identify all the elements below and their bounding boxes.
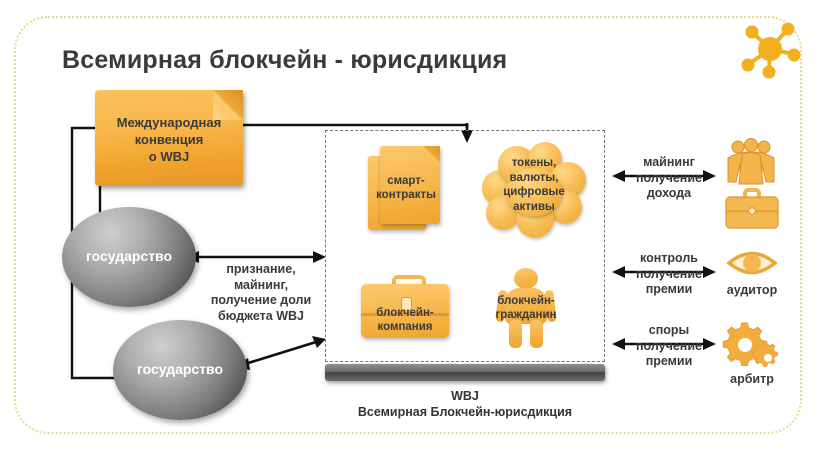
relation-control-line-1: контроль (613, 251, 725, 267)
smart-contracts-line-2: контракты (360, 188, 452, 202)
wbj-caption-line-1: WBJ (325, 388, 605, 404)
citizen-line-1: блокчейн- (469, 294, 583, 308)
state-sphere-2[interactable]: государство (113, 320, 247, 420)
relation-disputes-line-3: премии (613, 354, 725, 370)
smart-contracts-group[interactable]: смарт- контракты (368, 146, 446, 232)
relation-mining-line-2: получение (613, 171, 725, 187)
convention-line-3: о WBJ (95, 148, 243, 165)
relation-control-line-2: получение (613, 267, 725, 283)
citizen-line-2: гражданин (469, 308, 583, 322)
relation-disputes-line-2: получение (613, 339, 725, 355)
gears-icon[interactable] (722, 318, 782, 370)
wbj-caption-line-2: Всемирная Блокчейн-юрисдикция (325, 404, 605, 420)
eye-icon[interactable] (726, 246, 778, 280)
state-relation-line-4: бюджета WBJ (196, 309, 326, 325)
tokens-line-3: цифровые (482, 185, 586, 200)
tokens-line-4: активы (482, 200, 586, 215)
state-sphere-2-label: государство (113, 361, 247, 377)
convention-line-2: конвенция (95, 131, 243, 148)
state-relation-line-1: признание, (196, 262, 326, 278)
tokens-line-1: токены, (482, 156, 586, 171)
wbj-caption: WBJ Всемирная Блокчейн-юрисдикция (325, 388, 605, 420)
diagram-canvas: Всемирная блокчейн - юрисдикция Междунар… (0, 0, 820, 450)
state-relation-label: признание, майнинг, получение доли бюдже… (196, 262, 326, 324)
company-line-2: компания (351, 320, 459, 334)
briefcase-actor-icon[interactable] (724, 188, 780, 230)
page-title: Всемирная блокчейн - юрисдикция (62, 46, 507, 75)
person-leg-left-icon (509, 320, 522, 348)
person-leg-right-icon (530, 320, 543, 348)
tokens-cloud-group[interactable]: токены, валюты, цифровые активы (482, 142, 586, 238)
state-relation-line-3: получение доли (196, 293, 326, 309)
state-relation-line-2: майнинг, (196, 278, 326, 294)
document-corner-icon (423, 146, 440, 163)
relation-mining-label: майнинг получение дохода (613, 155, 725, 202)
wbj-platform-bar (325, 364, 605, 381)
blockchain-company-group[interactable]: блокчейн- компания (361, 272, 449, 338)
convention-line-1: Международная (95, 114, 243, 131)
state-sphere-1-label: государство (62, 248, 196, 264)
auditor-label: аудитор (707, 283, 797, 297)
network-nodes-logo (735, 18, 805, 80)
state-sphere-1[interactable]: государство (62, 207, 196, 307)
international-convention-card[interactable]: Международная конвенция о WBJ (95, 90, 243, 186)
relation-mining-line-3: дохода (613, 186, 725, 202)
person-head-icon (514, 268, 538, 289)
tokens-line-2: валюты, (482, 171, 586, 186)
relation-disputes-label: споры получение премии (613, 323, 725, 370)
blockchain-citizen-group[interactable]: блокчейн- гражданин (495, 268, 557, 348)
people-group-icon[interactable] (722, 138, 780, 186)
smart-contracts-line-1: смарт- (360, 174, 452, 188)
relation-mining-line-1: майнинг (613, 155, 725, 171)
arbiter-label: арбитр (707, 372, 797, 386)
relation-disputes-line-1: споры (613, 323, 725, 339)
company-line-1: блокчейн- (351, 306, 459, 320)
